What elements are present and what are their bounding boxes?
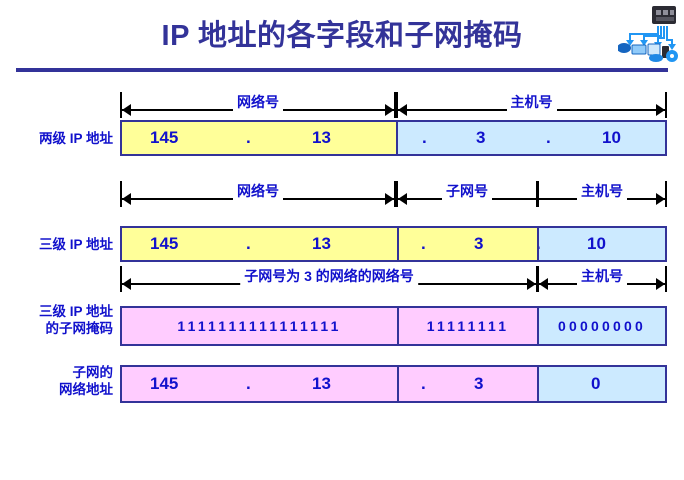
network-diagram-icon: [618, 2, 680, 64]
segment-subnet-number: . 3: [397, 367, 537, 401]
arrowhead-left: [398, 193, 407, 205]
annotation-row3-host: 主机号: [537, 266, 667, 292]
title-divider: [16, 68, 668, 72]
arrowhead-left: [398, 104, 407, 116]
dot-1: .: [246, 234, 251, 254]
annotation-label: 网络号: [233, 92, 283, 112]
octet-1: 145: [150, 374, 178, 394]
annotation-label: 网络号: [233, 181, 283, 201]
title-bar: IP 地址的各字段和子网掩码: [0, 0, 684, 76]
row-label-subnet-network-address: 子网的 网络地址: [0, 364, 113, 398]
octet-2: 13: [312, 128, 331, 148]
arrowhead-left: [122, 278, 131, 290]
arrowhead-left: [122, 193, 131, 205]
arrowhead-left: [122, 104, 131, 116]
annotation-label: 子网号为 3 的网络的网络号: [240, 266, 418, 286]
annotation-row3-network: 子网号为 3 的网络的网络号: [120, 266, 538, 292]
arrowhead-right: [385, 193, 394, 205]
row-label-line-2: 的子网掩码: [0, 320, 113, 337]
annotation-label: 主机号: [507, 92, 557, 112]
segment-mask-network-bits: 1111111111111111: [122, 308, 397, 344]
segment-network-number: 145 . 13: [122, 122, 396, 154]
tick-right: [665, 266, 667, 292]
segment-host-number: . 3 . 10: [396, 122, 665, 154]
segment-mask-host-bits: 00000000: [537, 308, 665, 344]
tick-right: [665, 181, 667, 207]
dot-3: .: [537, 234, 541, 254]
annotation-row1-host: 主机号: [396, 92, 667, 118]
bar-three-level-ip: 145 . 13 . 3 . 10: [120, 226, 667, 262]
annotation-label: 主机号: [577, 181, 627, 201]
dot-1: .: [246, 374, 251, 394]
row-label-two-level-ip: 两级 IP 地址: [0, 130, 113, 147]
segment-network-number: 145 . 13: [122, 228, 397, 260]
tick-right: [665, 92, 667, 118]
page-title: IP 地址的各字段和子网掩码: [0, 12, 684, 54]
arrowhead-right: [656, 278, 665, 290]
dot-3: .: [546, 128, 551, 148]
annotation-row2-network: 网络号: [120, 181, 396, 207]
bar-subnet-network-address: 145 . 13 . 3 0: [120, 365, 667, 403]
annotation-row1-network: 网络号: [120, 92, 396, 118]
dot-2: .: [421, 234, 426, 254]
tick-left: [537, 181, 539, 207]
arrowhead-right: [656, 104, 665, 116]
dot-2: .: [422, 128, 427, 148]
bits-host: 00000000: [558, 318, 646, 334]
segment-mask-subnet-bits: 11111111: [397, 308, 537, 344]
octet-2: 13: [312, 234, 331, 254]
bits-network: 1111111111111111: [177, 318, 341, 334]
octet-1: 145: [150, 128, 178, 148]
row-label-line-1: 子网的: [0, 364, 113, 381]
octet-4: 0: [591, 374, 600, 394]
segment-network-number: 145 . 13: [122, 367, 397, 401]
arrowhead-right: [656, 193, 665, 205]
arrowhead-right: [385, 104, 394, 116]
row-label-line-1: 三级 IP 地址: [0, 303, 113, 320]
segment-host-zero: 0: [537, 367, 665, 401]
octet-4: 10: [587, 234, 606, 254]
segment-subnet-number: . 3: [397, 228, 537, 260]
dot-1: .: [246, 128, 251, 148]
row-label-line-2: 网络地址: [0, 381, 113, 398]
octet-3: 3: [474, 374, 483, 394]
arrowhead-left: [539, 278, 548, 290]
octet-3: 3: [476, 128, 485, 148]
octet-4: 10: [602, 128, 621, 148]
octet-2: 13: [312, 374, 331, 394]
octet-1: 145: [150, 234, 178, 254]
dot-2: .: [421, 374, 426, 394]
octet-3: 3: [474, 234, 483, 254]
segment-host-number: . 10: [537, 228, 665, 260]
row-label-subnet-mask: 三级 IP 地址 的子网掩码: [0, 303, 113, 337]
bar-two-level-ip: 145 . 13 . 3 . 10: [120, 120, 667, 156]
row-label-three-level-ip: 三级 IP 地址: [0, 236, 113, 253]
annotation-row2-host: 主机号: [537, 181, 667, 207]
arrowhead-right: [527, 278, 536, 290]
annotation-label: 子网号: [442, 181, 492, 201]
bar-subnet-mask: 1111111111111111 11111111 00000000: [120, 306, 667, 346]
annotation-label: 主机号: [577, 266, 627, 286]
annotation-row2-subnet: 子网号: [396, 181, 538, 207]
bits-subnet: 11111111: [427, 318, 509, 334]
